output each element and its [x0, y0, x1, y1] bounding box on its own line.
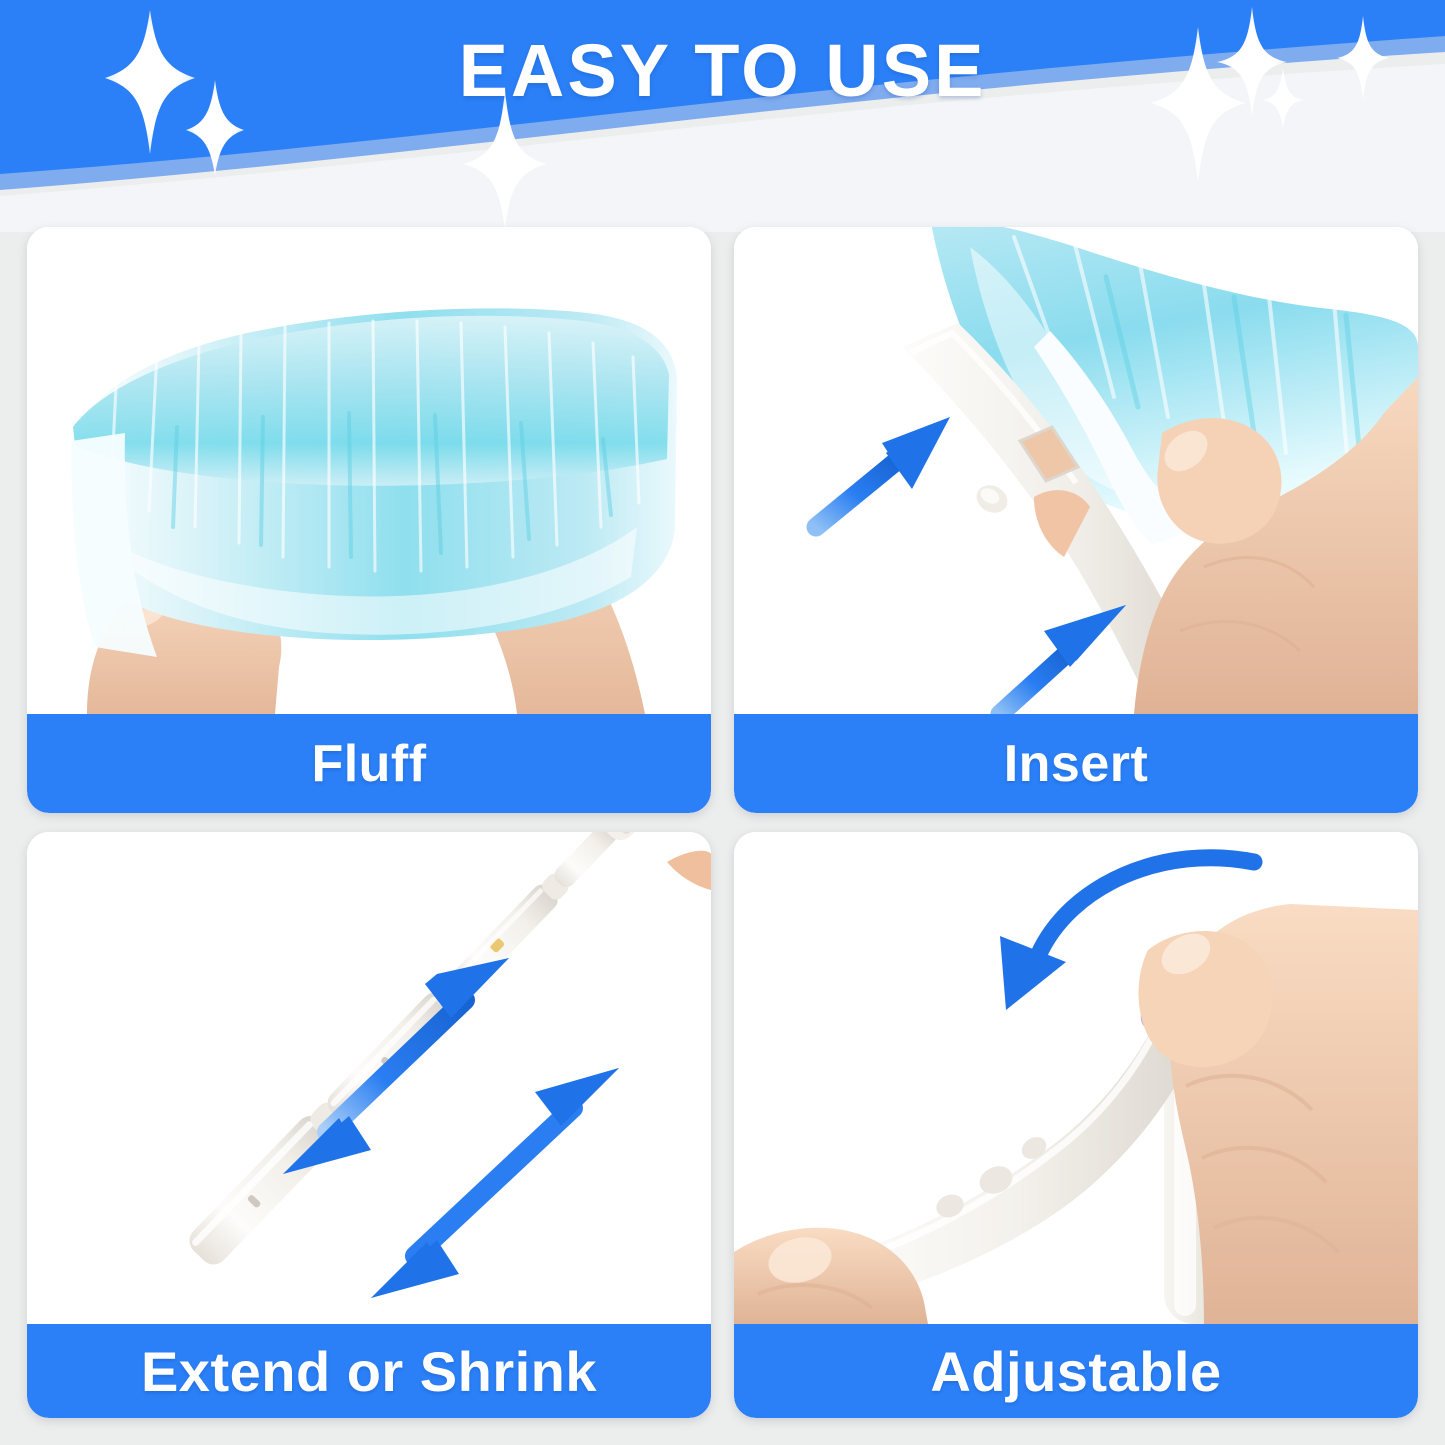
step-label-bar-insert: Insert — [734, 714, 1418, 813]
step-label-bar-adjustable: Adjustable — [734, 1324, 1418, 1418]
page-title: EASY TO USE — [0, 28, 1445, 113]
step-card-extend[interactable]: Extend or Shrink — [27, 832, 711, 1418]
step-label-extend: Extend or Shrink — [141, 1339, 597, 1404]
duster-refill-fluff — [71, 308, 677, 657]
header-banner: EASY TO USE — [0, 0, 1445, 232]
infographic-page: EASY TO USE — [0, 0, 1445, 1445]
steps-grid: Fluff — [27, 227, 1418, 1418]
step-photo-adjustable — [734, 832, 1418, 1324]
step-label-insert: Insert — [1004, 734, 1149, 794]
step-label-fluff: Fluff — [311, 734, 426, 794]
step-label-adjustable: Adjustable — [930, 1339, 1221, 1404]
step-photo-extend — [27, 832, 711, 1324]
step-card-fluff[interactable]: Fluff — [27, 227, 711, 813]
step-card-insert[interactable]: Insert — [734, 227, 1418, 813]
step-photo-insert — [734, 227, 1418, 714]
step-label-bar-extend: Extend or Shrink — [27, 1324, 711, 1418]
step-photo-fluff — [27, 227, 711, 714]
step-card-adjustable[interactable]: Adjustable — [734, 832, 1418, 1418]
step-label-bar-fluff: Fluff — [27, 714, 711, 813]
